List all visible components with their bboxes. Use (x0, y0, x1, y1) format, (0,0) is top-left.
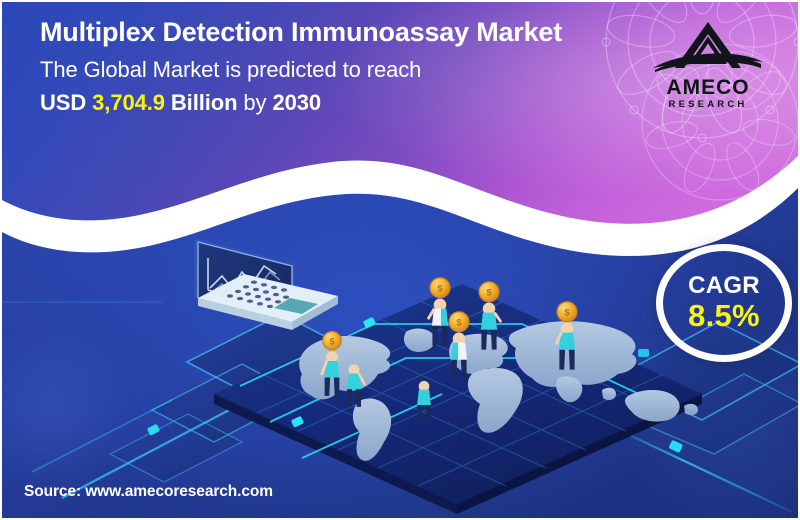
market-value: 3,704.9 (92, 90, 165, 115)
header-text-block: Multiplex Detection Immunoassay Market T… (40, 14, 640, 118)
value-prefix: USD (40, 90, 86, 115)
brand-logo[interactable]: AMECO RESEARCH (642, 18, 774, 110)
market-value-line: USD 3,704.9 Billion by 2030 (40, 88, 640, 118)
logo-subtext: RESEARCH (642, 99, 774, 110)
cagr-value: 8.5% (688, 299, 760, 333)
value-unit: Billion (171, 90, 238, 115)
triangle-swoosh-icon (649, 18, 767, 76)
infographic-canvas: $ (0, 0, 800, 520)
page-title: Multiplex Detection Immunoassay Market (40, 14, 640, 51)
source-attribution: Source: www.amecoresearch.com (24, 483, 273, 501)
cagr-label: CAGR (688, 273, 760, 299)
subtitle: The Global Market is predicted to reach (40, 55, 640, 85)
value-connector: by (243, 90, 266, 115)
cagr-badge: CAGR 8.5% (656, 244, 792, 362)
forecast-year: 2030 (272, 90, 321, 115)
logo-name: AMECO (642, 77, 774, 98)
